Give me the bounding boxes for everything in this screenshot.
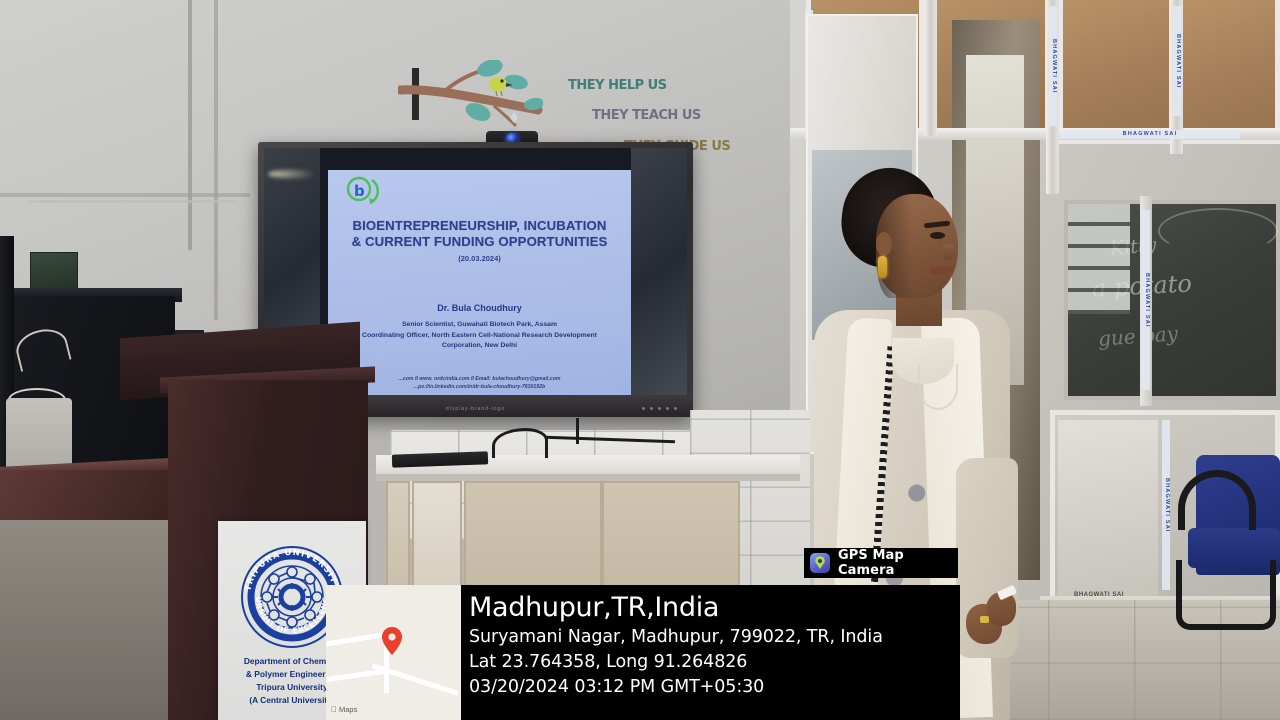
eye bbox=[930, 232, 945, 239]
slide-date: (20.03.2024) bbox=[328, 254, 631, 263]
screen-glint bbox=[268, 170, 316, 178]
gps-info-panel:  Maps Madhupur,TR,India Suryamani Nagar… bbox=[326, 585, 960, 720]
visitor-chair-leg bbox=[1176, 560, 1276, 630]
location-pin-icon bbox=[382, 627, 402, 655]
slide-title: BIOENTREPRENEURSHIP, INCUBATION & CURREN… bbox=[328, 218, 631, 250]
biotech-b-logo-icon: b bbox=[342, 176, 384, 208]
gps-text-block: Madhupur,TR,India Suryamani Nagar, Madhu… bbox=[461, 585, 960, 720]
tree-branch-with-bird-icon bbox=[398, 60, 543, 132]
gps-badge-label: GPS Map Camera bbox=[838, 548, 958, 578]
gps-coordinates: Lat 23.764358, Long 91.264826 bbox=[469, 650, 960, 675]
slide-contact-footer: ...com II www. nrdcindia.com II Email: b… bbox=[332, 375, 627, 391]
cork-panel bbox=[1058, 0, 1174, 144]
display-buttons[interactable] bbox=[642, 407, 677, 410]
slide-affiliation: Senior Scientist, Guwahati Biotech Park,… bbox=[332, 320, 627, 352]
frame-brand-strip: BHAGWATI SAI bbox=[1060, 130, 1240, 139]
display-brand-logo: display-brand-logo bbox=[446, 406, 505, 412]
wall-rail bbox=[28, 200, 238, 203]
wall-seam bbox=[188, 0, 192, 250]
affiliation-line-1: Senior Scientist, Guwahati Biotech Park,… bbox=[332, 320, 627, 331]
svg-text:b: b bbox=[354, 182, 365, 200]
chalk-mark bbox=[1158, 208, 1278, 254]
gps-place-name: Madhupur,TR,India bbox=[469, 591, 960, 625]
counter-edge bbox=[376, 474, 800, 481]
footer-line-2: ...ps://in.linkedin.com/in/dr-bula-choud… bbox=[332, 383, 627, 391]
chalk-text: gue pay bbox=[1097, 321, 1178, 351]
window-frame-mullion bbox=[924, 0, 937, 136]
slide-presenter-name: Dr. Bula Choudhury bbox=[328, 303, 631, 313]
frame-brand-strip: BHAGWATI SAI bbox=[1162, 420, 1170, 590]
ring bbox=[980, 616, 989, 623]
slide-title-line-2: & CURRENT FUNDING OPPORTUNITIES bbox=[328, 234, 631, 250]
photograph-canvas: BHAGWATI SAI BHAGWATI SAI BHAGWATI SAI B… bbox=[0, 0, 1280, 720]
affiliation-line-3: Corporation, New Delhi bbox=[332, 341, 627, 352]
gps-map-camera-badge: GPS Map Camera bbox=[804, 548, 958, 578]
gps-timestamp: 03/20/2024 03:12 PM GMT+05:30 bbox=[469, 675, 960, 700]
frame-brand-strip: BHAGWATI SAI bbox=[1049, 6, 1057, 126]
gps-address: Suryamani Nagar, Madhupur, 799022, TR, I… bbox=[469, 625, 960, 650]
window-pane bbox=[1058, 420, 1158, 600]
wall-decal-help: THEY HELP US bbox=[568, 78, 667, 93]
presentation-slide: b BIOENTREPRENEURSHIP, INCUBATION & CURR… bbox=[328, 170, 631, 395]
map-attribution:  Maps bbox=[331, 705, 357, 714]
map-pin-app-icon bbox=[810, 553, 830, 573]
wall-decal-teach: THEY TEACH US bbox=[592, 108, 701, 123]
footer-line-1: ...com II www. nrdcindia.com II Email: b… bbox=[332, 375, 627, 383]
wall-seam bbox=[214, 0, 218, 320]
nose bbox=[943, 244, 955, 260]
map-attribution-label: Maps bbox=[339, 705, 357, 714]
frame-brand-strip: BHAGWATI SAI bbox=[1173, 6, 1181, 116]
wall-rail bbox=[0, 193, 250, 197]
cable bbox=[576, 418, 579, 444]
earring bbox=[878, 256, 887, 278]
frame-brand-strip: BHAGWATI SAI bbox=[1142, 210, 1150, 390]
pin-glyph bbox=[815, 556, 825, 569]
lab-instrument-enclosure bbox=[30, 252, 78, 292]
affiliation-line-2: Coordinating Officer, North Eastern Cell… bbox=[332, 331, 627, 342]
slide-title-line-1: BIOENTREPRENEURSHIP, INCUBATION bbox=[328, 218, 631, 234]
map-thumbnail[interactable]:  Maps bbox=[326, 585, 461, 720]
presenter-ear bbox=[876, 232, 892, 256]
apple-logo-icon:  bbox=[331, 705, 337, 714]
window-behind-board bbox=[1068, 204, 1130, 314]
necklace bbox=[918, 364, 958, 410]
cork-panel bbox=[1178, 0, 1280, 144]
screen-side-reflection bbox=[631, 148, 687, 395]
